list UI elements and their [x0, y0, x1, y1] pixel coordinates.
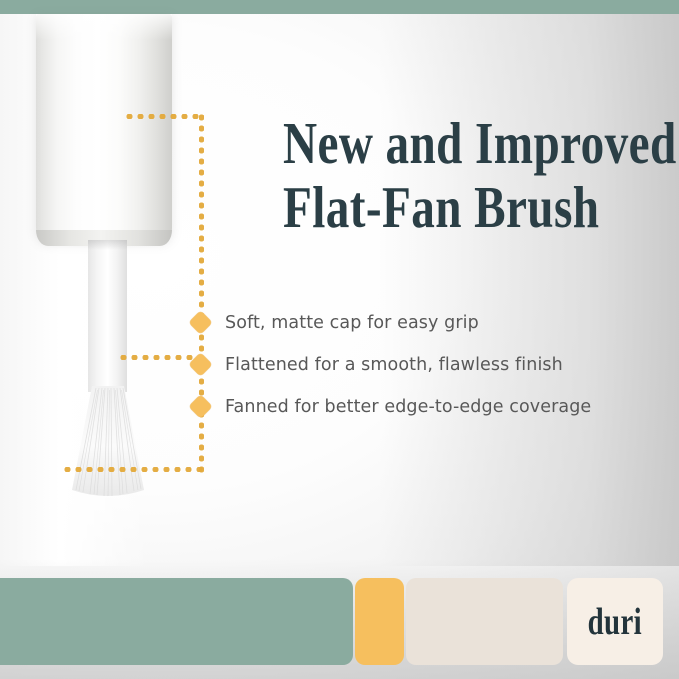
- leader-line-cap: [124, 114, 204, 119]
- brush-stem: [88, 240, 127, 392]
- feature-label: Fanned for better edge-to-edge coverage: [225, 397, 591, 417]
- promo-graphic: New and Improved Flat-Fan Brush Soft, ma…: [0, 0, 679, 679]
- list-item: Flattened for a smooth, flawless finish: [190, 344, 660, 386]
- brush-cap-highlight: [36, 14, 172, 40]
- diamond-bullet-icon: [190, 312, 212, 334]
- brush-bristles: [52, 386, 164, 500]
- brush-cap: [36, 14, 172, 242]
- top-accent-strip: [0, 0, 679, 14]
- feature-label: Flattened for a smooth, flawless finish: [225, 355, 563, 375]
- footer-color-bar: duri: [0, 564, 679, 679]
- footer-block-amber: [355, 578, 404, 665]
- brush-stem-shadow: [88, 240, 127, 250]
- feature-list: Soft, matte cap for easy grip Flattened …: [190, 302, 660, 428]
- list-item: Fanned for better edge-to-edge coverage: [190, 386, 660, 428]
- brand-logo-text: duri: [588, 603, 642, 641]
- background-right-shade: [379, 14, 679, 566]
- page-title: New and Improved Flat-Fan Brush: [283, 112, 597, 238]
- diamond-bullet-icon: [190, 354, 212, 376]
- list-item: Soft, matte cap for easy grip: [190, 302, 660, 344]
- headline-line-1: New and Improved: [283, 112, 597, 174]
- headline-line-2: Flat-Fan Brush: [283, 176, 597, 238]
- brand-logo-tile: duri: [567, 578, 663, 665]
- diamond-bullet-icon: [190, 396, 212, 418]
- leader-line-bristles: [62, 467, 204, 472]
- feature-label: Soft, matte cap for easy grip: [225, 313, 479, 333]
- footer-block-sage: [0, 578, 353, 665]
- footer-block-cream: [406, 578, 563, 665]
- product-image-brush: [0, 14, 230, 514]
